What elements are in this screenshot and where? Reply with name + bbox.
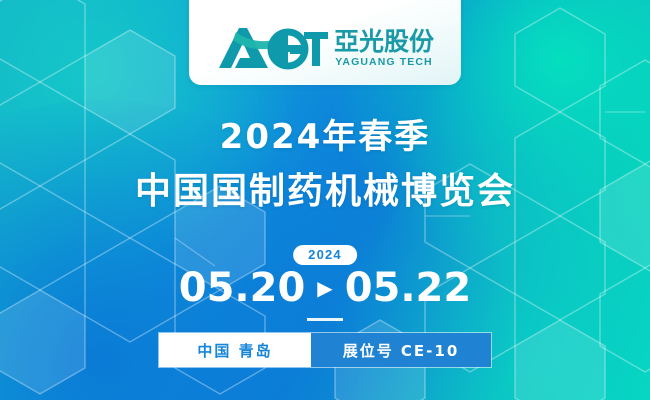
- headline-line-2: 中国国制药机械博览会: [0, 169, 650, 214]
- year-badge: 2024: [293, 245, 357, 265]
- date-end: 05.22: [345, 268, 472, 308]
- booth-label: 展位号 CE-10: [311, 333, 491, 367]
- brand-name-block: 亞光股份 YAGUANG TECH: [334, 29, 434, 68]
- date-start: 05.20: [179, 268, 306, 308]
- agt-logo-icon: [216, 26, 328, 70]
- exhibition-banner: 亞光股份 YAGUANG TECH 2024年春季 中国国制药机械博览会 202…: [0, 0, 650, 400]
- headline-block: 2024年春季 中国国制药机械博览会: [0, 116, 650, 214]
- brand-name-cn: 亞光股份: [334, 29, 434, 54]
- brand-name-en: YAGUANG TECH: [335, 57, 432, 68]
- brand-logo-inner: 亞光股份 YAGUANG TECH: [216, 26, 434, 70]
- brand-logo-card: 亞光股份 YAGUANG TECH: [189, 0, 461, 85]
- location-label: 中国 青岛: [159, 333, 311, 367]
- arrow-right-icon: ▶: [317, 279, 332, 299]
- date-underline-divider: [307, 318, 343, 321]
- info-bar: 中国 青岛 展位号 CE-10: [158, 332, 492, 368]
- headline-line-1: 2024年春季: [0, 116, 650, 159]
- date-range: 05.20 ▶ 05.22: [0, 268, 650, 308]
